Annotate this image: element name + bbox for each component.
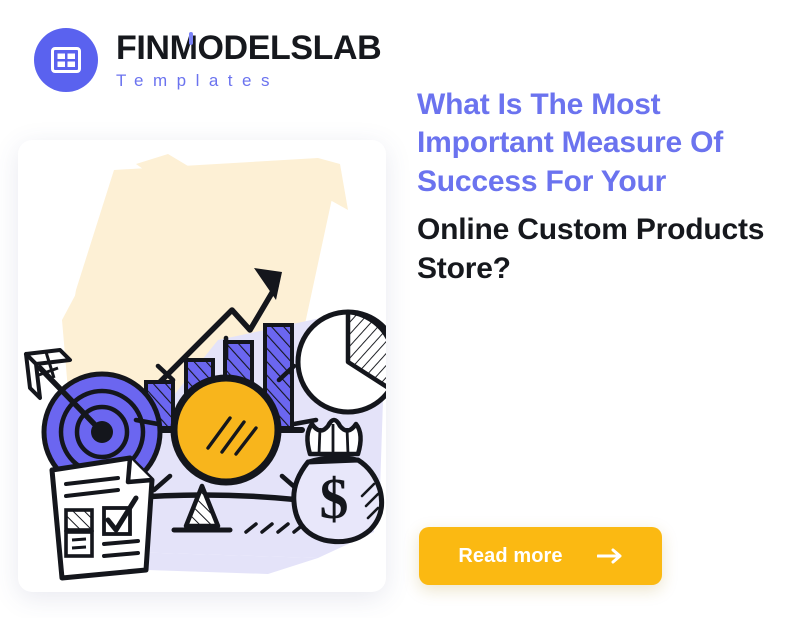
power-accent-icon: [189, 32, 193, 45]
page-subtitle: Online Custom Products Store?: [417, 211, 769, 288]
arrow-right-icon: [597, 548, 623, 564]
business-success-metrics-illustration: $: [18, 140, 386, 592]
read-more-label: Read more: [458, 545, 562, 568]
brand-name: FINMODELSLAB: [116, 31, 381, 65]
illustration-card: $: [18, 140, 386, 592]
brand-logo-mark: [34, 28, 98, 92]
brand-lockup: FINMODELSLAB Templates: [34, 28, 381, 92]
brand-text-block: FINMODELSLAB Templates: [116, 31, 381, 89]
svg-text:$: $: [320, 466, 349, 531]
promo-copy: What Is The Most Important Measure Of Su…: [417, 86, 769, 288]
grid-2x2-icon: [49, 43, 83, 77]
brand-name-label: FINMODELSLAB: [116, 29, 381, 67]
page-title: What Is The Most Important Measure Of Su…: [417, 86, 769, 201]
read-more-button[interactable]: Read more: [419, 527, 662, 585]
blog-promo-banner: FINMODELSLAB Templates: [0, 0, 800, 618]
checklist-document: [52, 458, 152, 578]
pie-chart: [298, 312, 386, 412]
brand-tagline: Templates: [116, 72, 381, 89]
